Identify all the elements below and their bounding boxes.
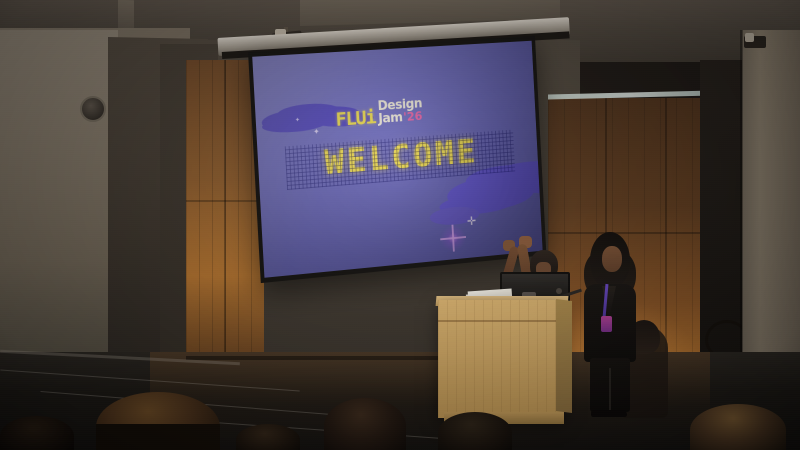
- audience-head: [438, 412, 512, 450]
- audience-head: [0, 416, 74, 450]
- wall-speaker-icon: [80, 96, 106, 122]
- screen-vignette: [252, 41, 542, 278]
- lanyard-badge: [601, 316, 612, 332]
- projection-screen: ✦ ✦ ✛ FLUi Design Jam '26 WELCOME: [248, 36, 546, 283]
- microphone-head-icon: [556, 288, 562, 294]
- podium-groove: [438, 320, 564, 322]
- left-wall-lit-face: [0, 30, 118, 360]
- audience-head: [324, 398, 406, 450]
- presenter-shoes: [591, 410, 627, 417]
- camera-lens-icon: [745, 33, 754, 42]
- trouser-seam: [609, 368, 611, 412]
- audience-head: [690, 404, 786, 450]
- audience-head-body: [96, 424, 220, 450]
- presenter-face: [602, 246, 622, 272]
- wood-seam: [224, 60, 226, 360]
- podium-side: [556, 299, 572, 413]
- wood-seam: [186, 200, 264, 202]
- podium: [438, 300, 564, 418]
- presenter-standing: [578, 232, 640, 418]
- audience-head: [236, 424, 300, 450]
- photo-scene: ✦ ✦ ✛ FLUi Design Jam '26 WELCOME: [0, 0, 800, 450]
- slide-surface: ✦ ✦ ✛ FLUi Design Jam '26 WELCOME: [252, 41, 542, 278]
